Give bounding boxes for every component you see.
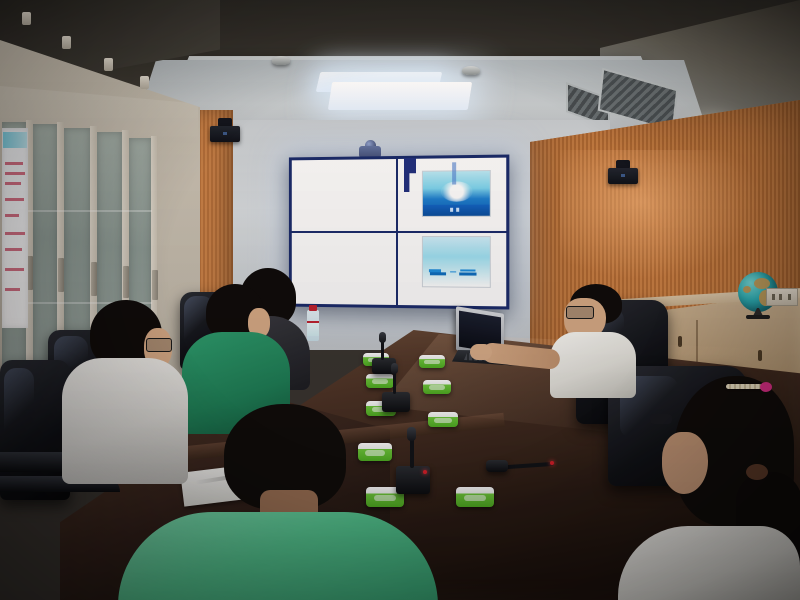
poster-text-line [5,232,25,235]
slide-chart-block [460,269,475,271]
presenter-glasses [566,306,594,319]
wall-speaker-right [608,160,638,186]
attendee-glasses [146,338,172,352]
poster-text-line [5,182,21,185]
cabinet-knob-2 [62,36,71,49]
slide-chart-block [430,273,446,275]
globe-landmass [743,286,751,293]
slide-image-chart [421,236,490,288]
green-coaster [423,380,451,394]
conference-room-photo [0,0,800,600]
slide-chart-block [459,273,476,275]
wall-poster [2,128,28,328]
attendee-hair-tie [760,382,772,392]
poster-text-line [5,214,19,217]
poster-text-line [5,162,23,165]
green-coaster [456,487,494,507]
cabinet-knob-3 [104,58,113,71]
attendee-hair-band [746,464,768,480]
speaker-led-icon [223,132,227,135]
microphone-base [486,460,508,472]
poster-text-line [5,198,24,201]
microphone-capsule [391,363,398,374]
cabinet-knob-4 [140,76,149,89]
attendee-torso [118,512,438,600]
attendee-glasses-side [650,414,672,424]
chair-highlight [4,368,34,454]
outlet-slot [788,294,791,300]
slide-chart-blocks [428,264,484,280]
poster-text-line [5,288,20,291]
wall-outlet[interactable] [766,288,798,306]
poster-text-line [5,248,22,251]
globe-base [746,315,770,319]
speaker-led-icon [621,174,625,177]
presenter-white-polo [544,284,636,396]
presenter-hand [470,344,492,360]
outlet-slot [779,294,782,300]
fluorescent-panel-center-icon [328,82,472,110]
slide-caption-text [450,208,461,212]
poster-text-line [5,172,25,175]
smoke-detector-right-icon [462,66,480,75]
video-wall-panel-4 [398,233,506,306]
microphone-gooseneck [381,340,384,360]
microphone-capsule [379,332,386,343]
slide-chart-block [450,271,456,273]
attendee-ponytail-foreground [640,376,800,600]
bottle-cap-icon [309,305,317,311]
cabinet-knob-1 [22,12,31,25]
video-wall-grid [292,158,506,307]
slide-sun-shape [441,182,472,202]
outlet-slot [772,294,775,300]
poster-header-band [3,132,27,148]
poster-text-line [5,268,24,271]
wall-light-glow [560,150,760,280]
video-wall[interactable] [289,155,509,310]
smoke-detector-left-icon [272,56,290,65]
presenter-torso [550,332,636,398]
attendee-hair-clip [726,384,762,389]
slide-sidebar-mark [452,163,456,185]
microphone-gooseneck [393,372,396,394]
video-wall-panel-1 [292,159,396,231]
attendee-torso [618,526,800,600]
microphone-led-icon [550,461,554,465]
wall-speaker-left [210,118,240,142]
green-coaster [419,355,445,368]
cabinet-handle-5 [152,270,158,300]
attendee-mint-shirt-foreground [118,404,438,600]
conference-microphone-4[interactable] [492,452,562,486]
slide-chart-block [429,269,441,272]
